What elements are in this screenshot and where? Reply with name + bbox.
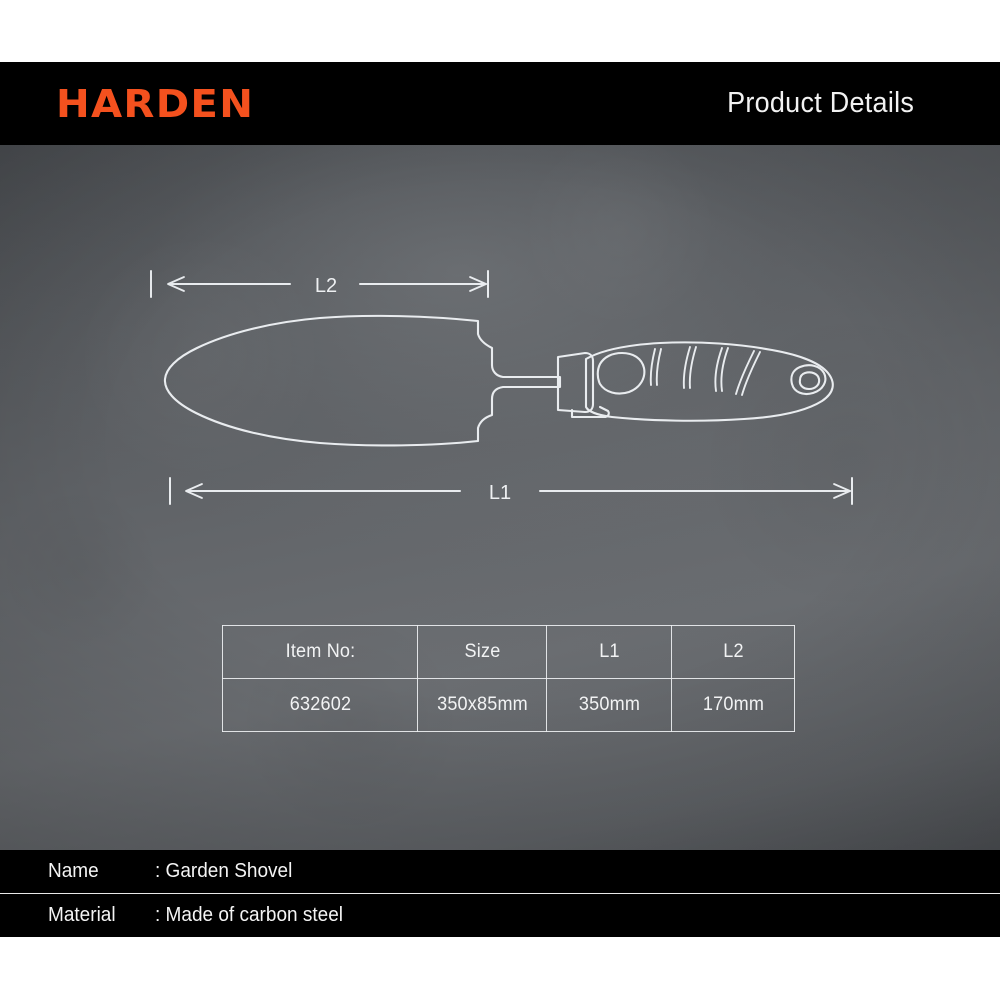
table-header-row: Item No: Size L1 L2 <box>223 626 795 679</box>
shovel-line-drawing: L2 L1 <box>0 145 1000 850</box>
product-diagram-stage: L2 L1 <box>0 145 1000 850</box>
footer-label-material: Material <box>48 904 116 927</box>
table-header-l1: L1 <box>550 626 669 679</box>
cell-size: 350x85mm <box>421 679 544 732</box>
harden-logo: HARDEN <box>56 85 254 123</box>
shovel-ferrule <box>558 353 593 412</box>
footer-row-name: Name : Garden Shovel <box>0 850 1000 893</box>
product-details-page: HARDEN Product Details <box>0 0 1000 1000</box>
specification-table: Item No: Size L1 L2 632602 350x85mm 350m… <box>222 625 795 732</box>
cell-l2: 170mm <box>675 679 792 732</box>
shovel-blade-outline <box>165 316 560 446</box>
cell-l1: 350mm <box>550 679 669 732</box>
table-header-item-no: Item No: <box>227 626 412 679</box>
cell-item-no: 632602 <box>227 679 412 732</box>
table-header-size: Size <box>421 626 544 679</box>
footer-label-name: Name <box>48 860 99 883</box>
footer-info: Name : Garden Shovel Material : Made of … <box>0 850 1000 937</box>
l2-label: L2 <box>315 275 337 297</box>
footer-row-material: Material : Made of carbon steel <box>0 893 1000 937</box>
l1-label: L1 <box>489 482 511 504</box>
table-row: 632602 350x85mm 350mm 170mm <box>223 679 795 732</box>
header-bar: HARDEN Product Details <box>0 62 1000 145</box>
handle-thumb-rest <box>598 353 645 394</box>
handle-grip-grooves <box>651 347 760 395</box>
handle-hang-hole-inner <box>800 372 819 389</box>
table-header-l2: L2 <box>675 626 792 679</box>
footer-value-name: : Garden Shovel <box>155 860 292 883</box>
shovel-handle-outline <box>586 342 833 420</box>
page-title: Product Details <box>727 87 914 120</box>
footer-value-material: : Made of carbon steel <box>155 904 343 927</box>
